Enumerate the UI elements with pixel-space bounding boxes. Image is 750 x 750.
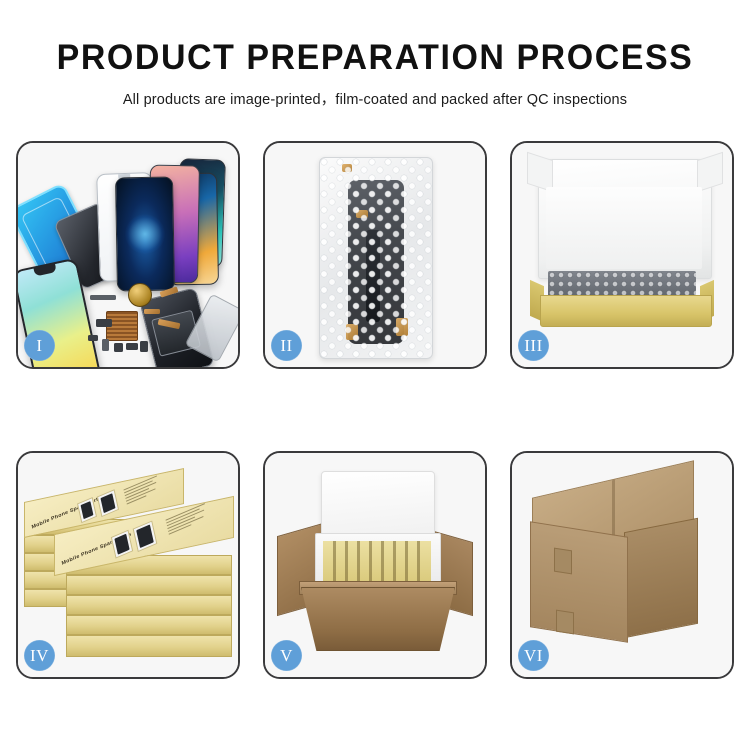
spare-part [88, 335, 98, 341]
carton-tape [554, 548, 572, 575]
step-1-photo: I [18, 143, 238, 367]
spare-part [90, 295, 116, 300]
bubble-texture [320, 158, 432, 358]
stacked-box [66, 635, 232, 657]
step-panel-5: V [263, 451, 487, 679]
step-3-photo: III [512, 143, 732, 367]
box-print-lines [124, 475, 161, 506]
step-badge-2: II [271, 330, 302, 361]
foam-face [546, 187, 702, 269]
step-panel-3: III [510, 141, 734, 369]
step-4-photo: Mobile Phone Spare Parts [18, 453, 238, 677]
step-badge-5: V [271, 640, 302, 671]
spare-part [96, 319, 112, 327]
carton-side-face [624, 518, 698, 638]
stacked-box [66, 595, 232, 615]
header: PRODUCT PREPARATION PROCESS All products… [0, 40, 750, 109]
page-subtitle: All products are image-printed，film-coat… [0, 88, 750, 109]
carton-tape [556, 610, 574, 635]
spare-part [144, 309, 160, 314]
stacked-box [66, 575, 232, 595]
product-preparation-infographic: PRODUCT PREPARATION PROCESS All products… [0, 0, 750, 750]
step-6-photo: VI [512, 453, 732, 677]
inner-box-front [540, 295, 712, 327]
step-badge-6: VI [518, 640, 549, 671]
box-print-lines [166, 503, 209, 536]
box-stack: Mobile Phone Spare Parts [22, 471, 236, 667]
step-5-photo: V [265, 453, 485, 677]
step-badge-4: IV [24, 640, 55, 671]
step-2-photo: II [265, 143, 485, 367]
steps-grid: I II [16, 141, 734, 679]
carton-front [301, 587, 455, 651]
step-panel-6: VI [510, 451, 734, 679]
box-print-thumb [97, 489, 119, 517]
step-panel-4: Mobile Phone Spare Parts [16, 451, 240, 679]
spare-part [114, 343, 123, 352]
step-panel-2: II [263, 141, 487, 369]
spare-part [102, 339, 109, 351]
foam-box-lid [321, 471, 435, 541]
step-badge-1: I [24, 330, 55, 361]
bubble-wrap-bag [319, 157, 433, 359]
spare-part [140, 341, 148, 352]
page-title: PRODUCT PREPARATION PROCESS [11, 40, 739, 75]
step-panel-1: I [16, 141, 240, 369]
speaker-module [128, 283, 152, 307]
step-badge-3: III [518, 330, 549, 361]
carton-front-face [530, 521, 628, 643]
stacked-box [66, 615, 232, 635]
box-print-thumb [133, 520, 158, 552]
yellow-boxes-inside [323, 541, 431, 585]
spare-part [126, 343, 138, 350]
phone-display-dark [115, 177, 175, 292]
